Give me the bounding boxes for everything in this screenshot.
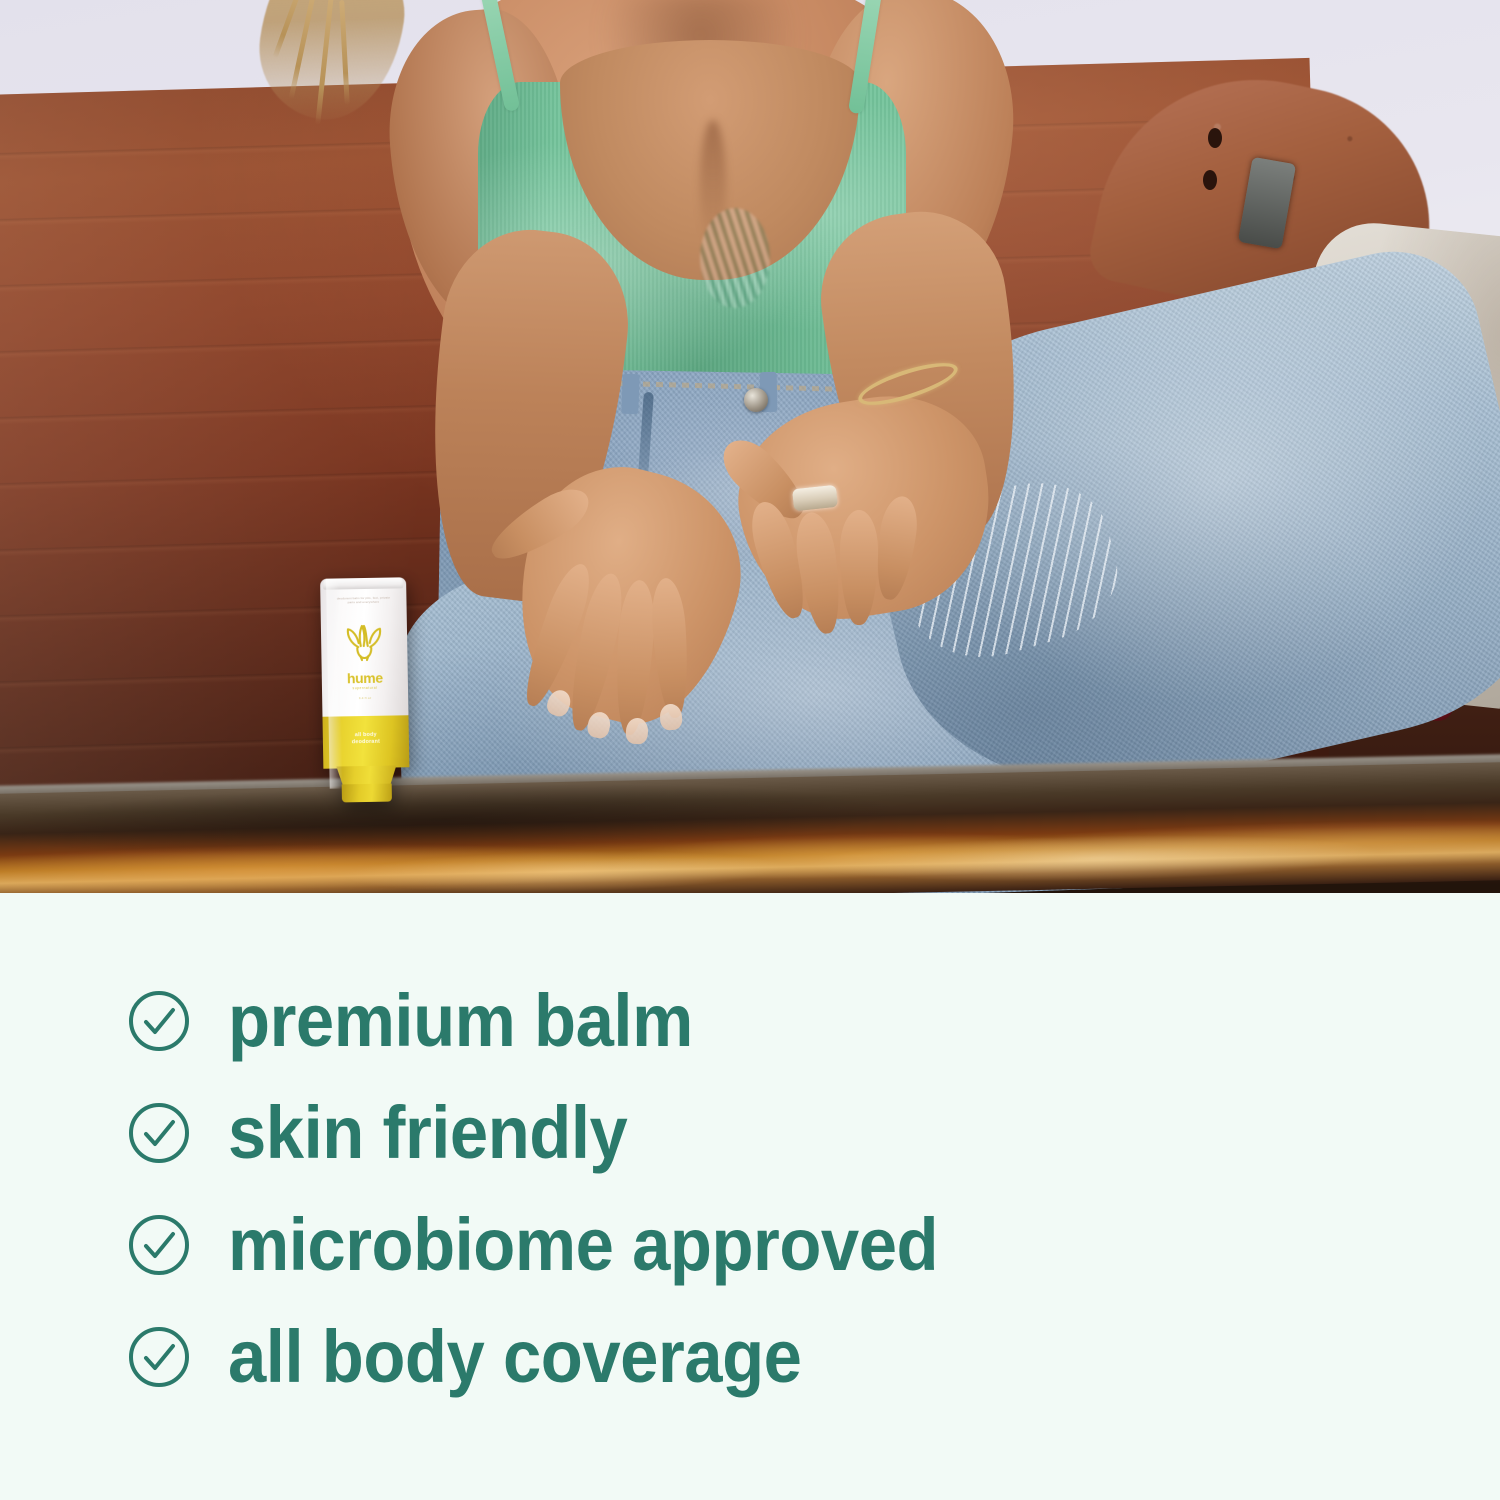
check-circle-icon: [128, 1214, 190, 1276]
benefit-label: all body coverage: [228, 1320, 801, 1394]
benefit-label: premium balm: [228, 984, 693, 1058]
tube-cap: [342, 784, 392, 803]
benefit-item-skin-friendly: skin friendly: [128, 1077, 1408, 1189]
benefits-panel: premium balm skin friendly: [0, 893, 1500, 1500]
benefit-item-all-body-coverage: all body coverage: [128, 1301, 1408, 1413]
jeans-button: [744, 388, 768, 412]
rabbit-head-icon: [342, 624, 387, 665]
hero-photo: deodorant balm for pits, feet, private p…: [0, 0, 1500, 893]
check-circle-icon: [128, 1326, 190, 1388]
product-tube: deodorant balm for pits, feet, private p…: [320, 577, 410, 800]
tube-microcopy: deodorant balm for pits, feet, private p…: [334, 596, 392, 606]
benefits-list: premium balm skin friendly: [128, 965, 1408, 1413]
benefit-label: skin friendly: [228, 1096, 627, 1170]
benefit-item-premium-balm: premium balm: [128, 965, 1408, 1077]
product-marketing-image: deodorant balm for pits, feet, private p…: [0, 0, 1500, 1500]
tube-band-description: all body deodorant: [323, 731, 409, 746]
check-circle-icon: [128, 990, 190, 1052]
benefit-item-microbiome-approved: microbiome approved: [128, 1189, 1408, 1301]
benefit-label: microbiome approved: [228, 1208, 938, 1282]
tube-band-line-2: deodorant: [323, 738, 409, 746]
tube-wordmark: hume: [322, 669, 408, 686]
ring: [792, 485, 838, 511]
check-circle-icon: [128, 1102, 190, 1164]
